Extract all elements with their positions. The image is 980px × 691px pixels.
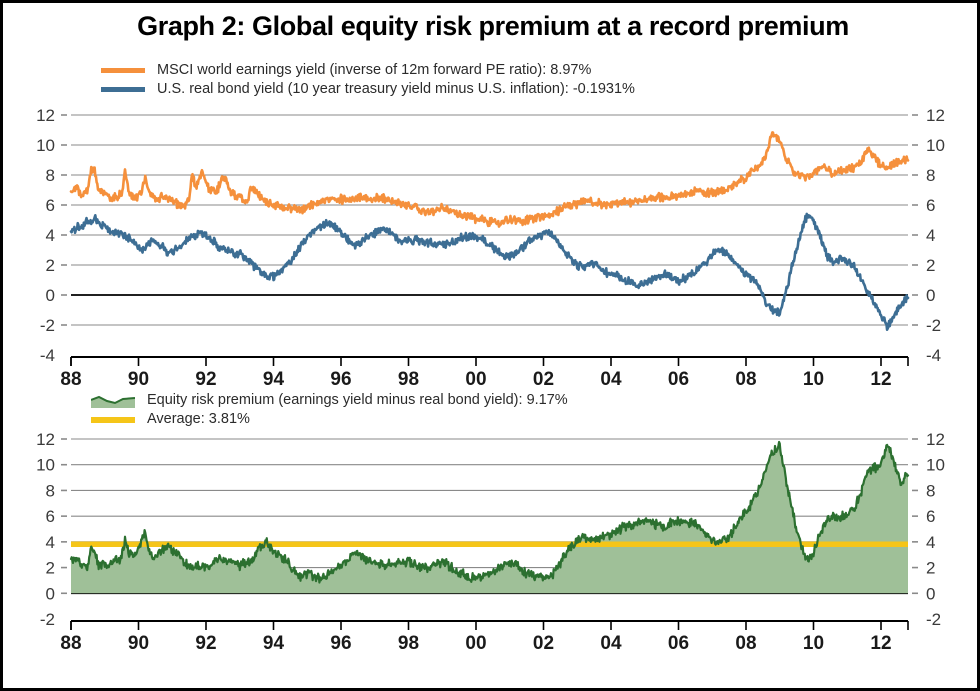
x-axis-tick: 92 (195, 633, 216, 654)
x-axis-tick: 00 (465, 633, 486, 654)
x-axis-tick: 92 (195, 369, 216, 389)
x-axis-tick: 90 (128, 633, 149, 654)
legend-label-earnings-yield: MSCI world earnings yield (inverse of 12… (157, 61, 591, 80)
x-axis-tick: 10 (803, 369, 824, 389)
y-axis-tick-right: -4 (926, 346, 941, 365)
x-axis-tick: 04 (600, 369, 622, 389)
y-axis-tick-right: 12 (926, 430, 945, 449)
legend-item-equity-risk-premium: Equity risk premium (earnings yield minu… (91, 391, 568, 410)
y-axis-tick-left: -4 (40, 346, 55, 365)
y-axis-tick-right: 6 (926, 507, 935, 526)
x-axis-tick: 94 (263, 633, 285, 654)
y-axis-tick-right: 8 (926, 481, 935, 500)
x-axis-tick: 02 (533, 369, 554, 389)
x-axis-tick: 98 (398, 369, 419, 389)
x-axis-tick: 00 (465, 369, 486, 389)
y-axis-tick-right: 6 (926, 196, 935, 215)
x-axis-tick: 06 (668, 633, 689, 654)
chart-erp-panel: -2-2002244668810101212889092949698000204… (3, 423, 980, 688)
y-axis-tick-left: 2 (46, 559, 55, 578)
y-axis-tick-right: 2 (926, 256, 935, 275)
x-axis-tick: 10 (803, 633, 824, 654)
y-axis-tick-left: 10 (36, 136, 55, 155)
y-axis-tick-right: 4 (926, 226, 935, 245)
y-axis-tick-left: 6 (46, 507, 55, 526)
y-axis-tick-left: 6 (46, 196, 55, 215)
x-axis-tick: 04 (600, 633, 622, 654)
y-axis-tick-right: 12 (926, 106, 945, 125)
y-axis-tick-left: 0 (46, 286, 55, 305)
line-swatch-blue-icon (101, 87, 145, 92)
y-axis-tick-left: 2 (46, 256, 55, 275)
legend-top-chart: MSCI world earnings yield (inverse of 12… (101, 61, 635, 99)
chart-page: Graph 2: Global equity risk premium at a… (0, 0, 980, 691)
x-axis-tick: 12 (870, 633, 891, 654)
y-axis-tick-left: 4 (46, 533, 55, 552)
y-axis-tick-left: 10 (36, 456, 55, 475)
x-axis-tick: 88 (60, 633, 81, 654)
line-swatch-orange-icon (101, 68, 145, 73)
x-axis-tick: 12 (870, 369, 891, 389)
earnings-yield-line (71, 132, 908, 226)
line-swatch-yellow-icon (91, 417, 135, 423)
chart-yields-panel: -4-4-2-200224466881010121288909294969800… (3, 99, 980, 389)
legend-label-real-bond-yield: U.S. real bond yield (10 year treasury y… (157, 80, 635, 99)
x-axis-tick: 02 (533, 633, 554, 654)
x-axis-tick: 98 (398, 633, 419, 654)
legend-item-earnings-yield: MSCI world earnings yield (inverse of 12… (101, 61, 635, 80)
x-axis-tick: 08 (735, 633, 756, 654)
y-axis-tick-left: 0 (46, 584, 55, 603)
y-axis-tick-left: 12 (36, 106, 55, 125)
y-axis-tick-right: 0 (926, 286, 935, 305)
y-axis-tick-right: -2 (926, 316, 941, 335)
legend-label-equity-risk-premium: Equity risk premium (earnings yield minu… (147, 391, 568, 410)
y-axis-tick-right: 4 (926, 533, 935, 552)
y-axis-tick-left: 8 (46, 481, 55, 500)
y-axis-tick-left: 4 (46, 226, 55, 245)
y-axis-tick-right: 10 (926, 456, 945, 475)
y-axis-tick-left: 12 (36, 430, 55, 449)
page-title: Graph 2: Global equity risk premium at a… (3, 11, 980, 42)
y-axis-tick-left: 8 (46, 166, 55, 185)
legend-item-real-bond-yield: U.S. real bond yield (10 year treasury y… (101, 80, 635, 99)
y-axis-tick-right: 8 (926, 166, 935, 185)
x-axis-tick: 90 (128, 369, 149, 389)
x-axis-tick: 94 (263, 369, 285, 389)
x-axis-tick: 88 (60, 369, 81, 389)
y-axis-tick-left: -2 (40, 610, 55, 629)
x-axis-tick: 96 (330, 633, 351, 654)
y-axis-tick-left: -2 (40, 316, 55, 335)
y-axis-tick-right: 0 (926, 584, 935, 603)
x-axis-tick: 08 (735, 369, 756, 389)
real-bond-yield-line (71, 214, 908, 330)
x-axis-tick: 06 (668, 369, 689, 389)
y-axis-tick-right: 2 (926, 559, 935, 578)
y-axis-tick-right: 10 (926, 136, 945, 155)
area-swatch-green-icon (91, 394, 135, 408)
y-axis-tick-right: -2 (926, 610, 941, 629)
x-axis-tick: 96 (330, 369, 351, 389)
